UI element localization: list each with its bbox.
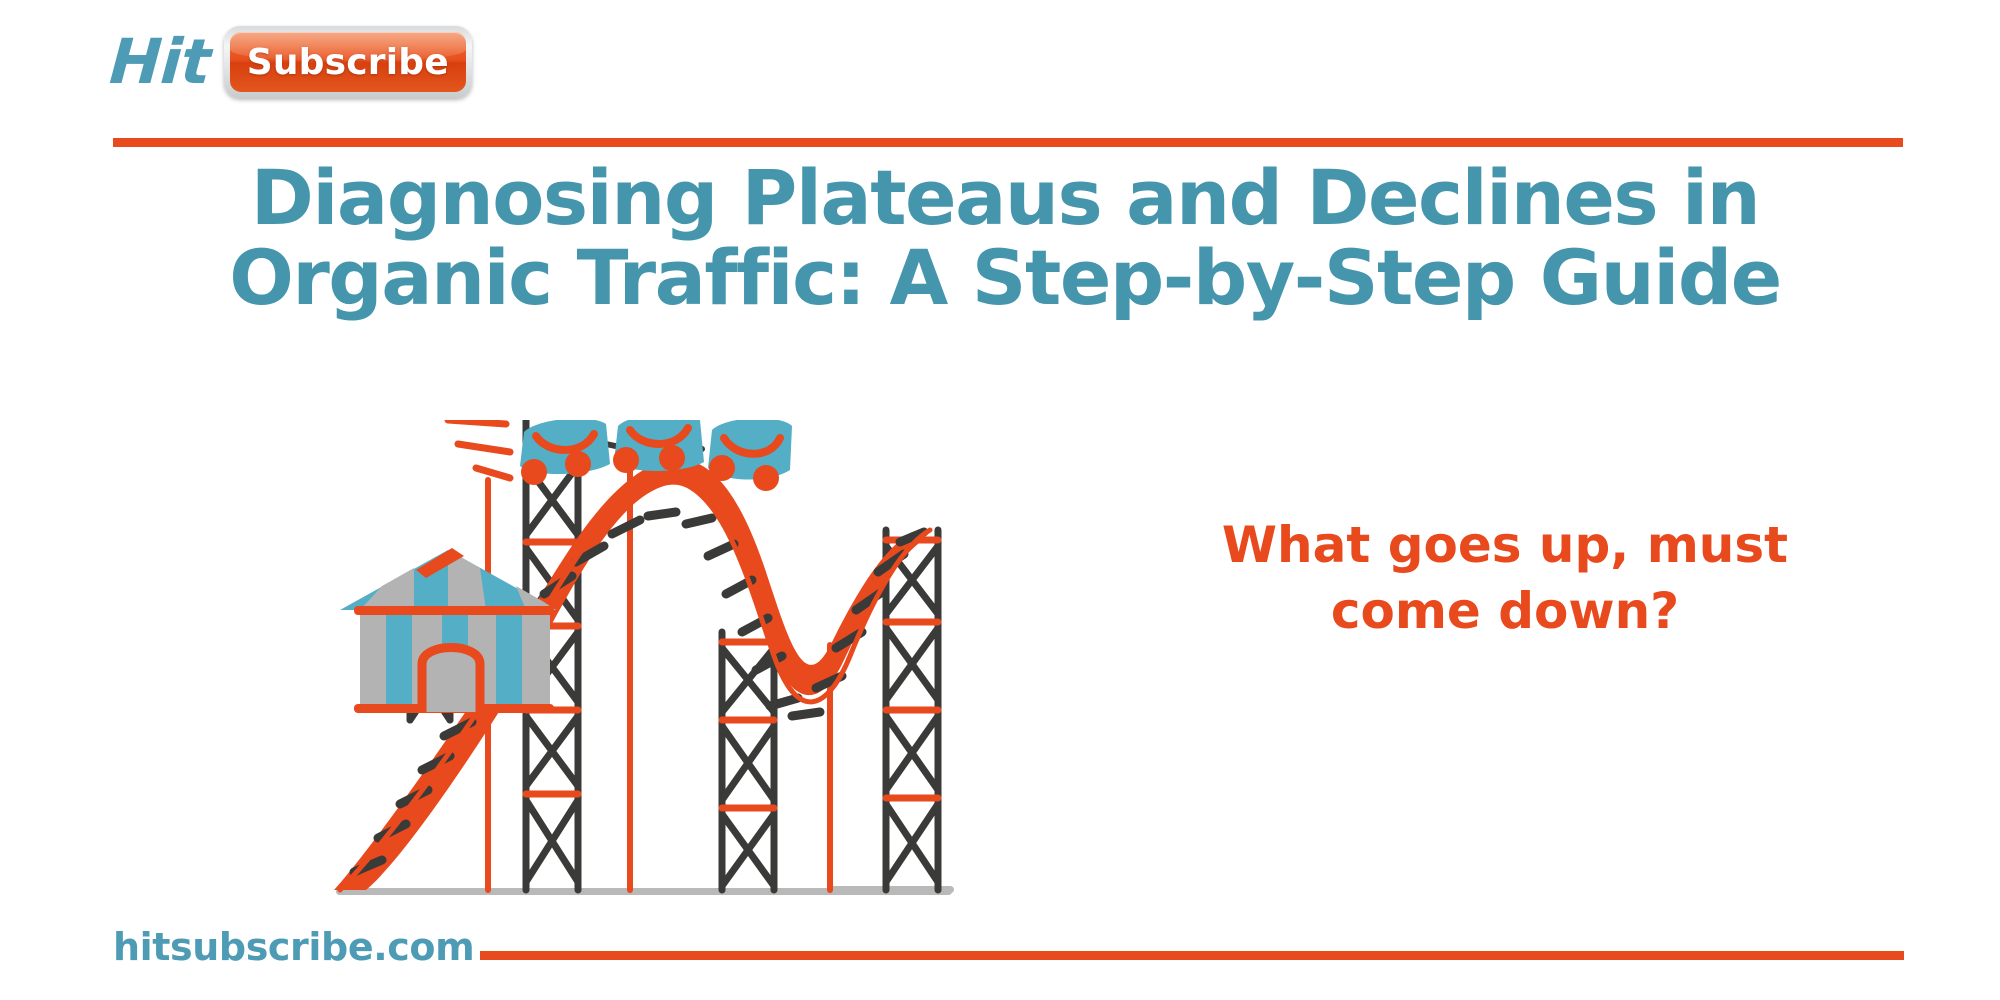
subscribe-button-face: Subscribe — [230, 32, 466, 92]
ground-line — [336, 886, 954, 895]
callout-text: What goes up, must come down? — [1185, 512, 1825, 644]
page-title-line-2: Organic Traffic: A Step-by-Step Guide — [100, 238, 1910, 318]
subscribe-button-label: Subscribe — [247, 42, 449, 83]
roller-coaster-illustration — [330, 420, 1160, 910]
header-divider — [113, 138, 1903, 147]
callout-line-2: come down? — [1185, 578, 1825, 644]
page-title-line-1: Diagnosing Plateaus and Declines in — [100, 158, 1910, 238]
footer-url[interactable]: hitsubscribe.com — [113, 925, 474, 969]
motion-lines — [448, 420, 510, 478]
subscribe-button[interactable]: Subscribe — [224, 26, 472, 98]
brand-wordmark: Hit — [108, 31, 226, 93]
callout-line-1: What goes up, must — [1185, 512, 1825, 578]
brand-logo[interactable]: Hit Subscribe — [110, 14, 472, 110]
slide-canvas: Hit Subscribe Diagnosing Plateaus and De… — [0, 0, 2000, 1000]
page-title: Diagnosing Plateaus and Declines in Orga… — [100, 158, 1910, 318]
footer-divider — [480, 951, 1904, 960]
